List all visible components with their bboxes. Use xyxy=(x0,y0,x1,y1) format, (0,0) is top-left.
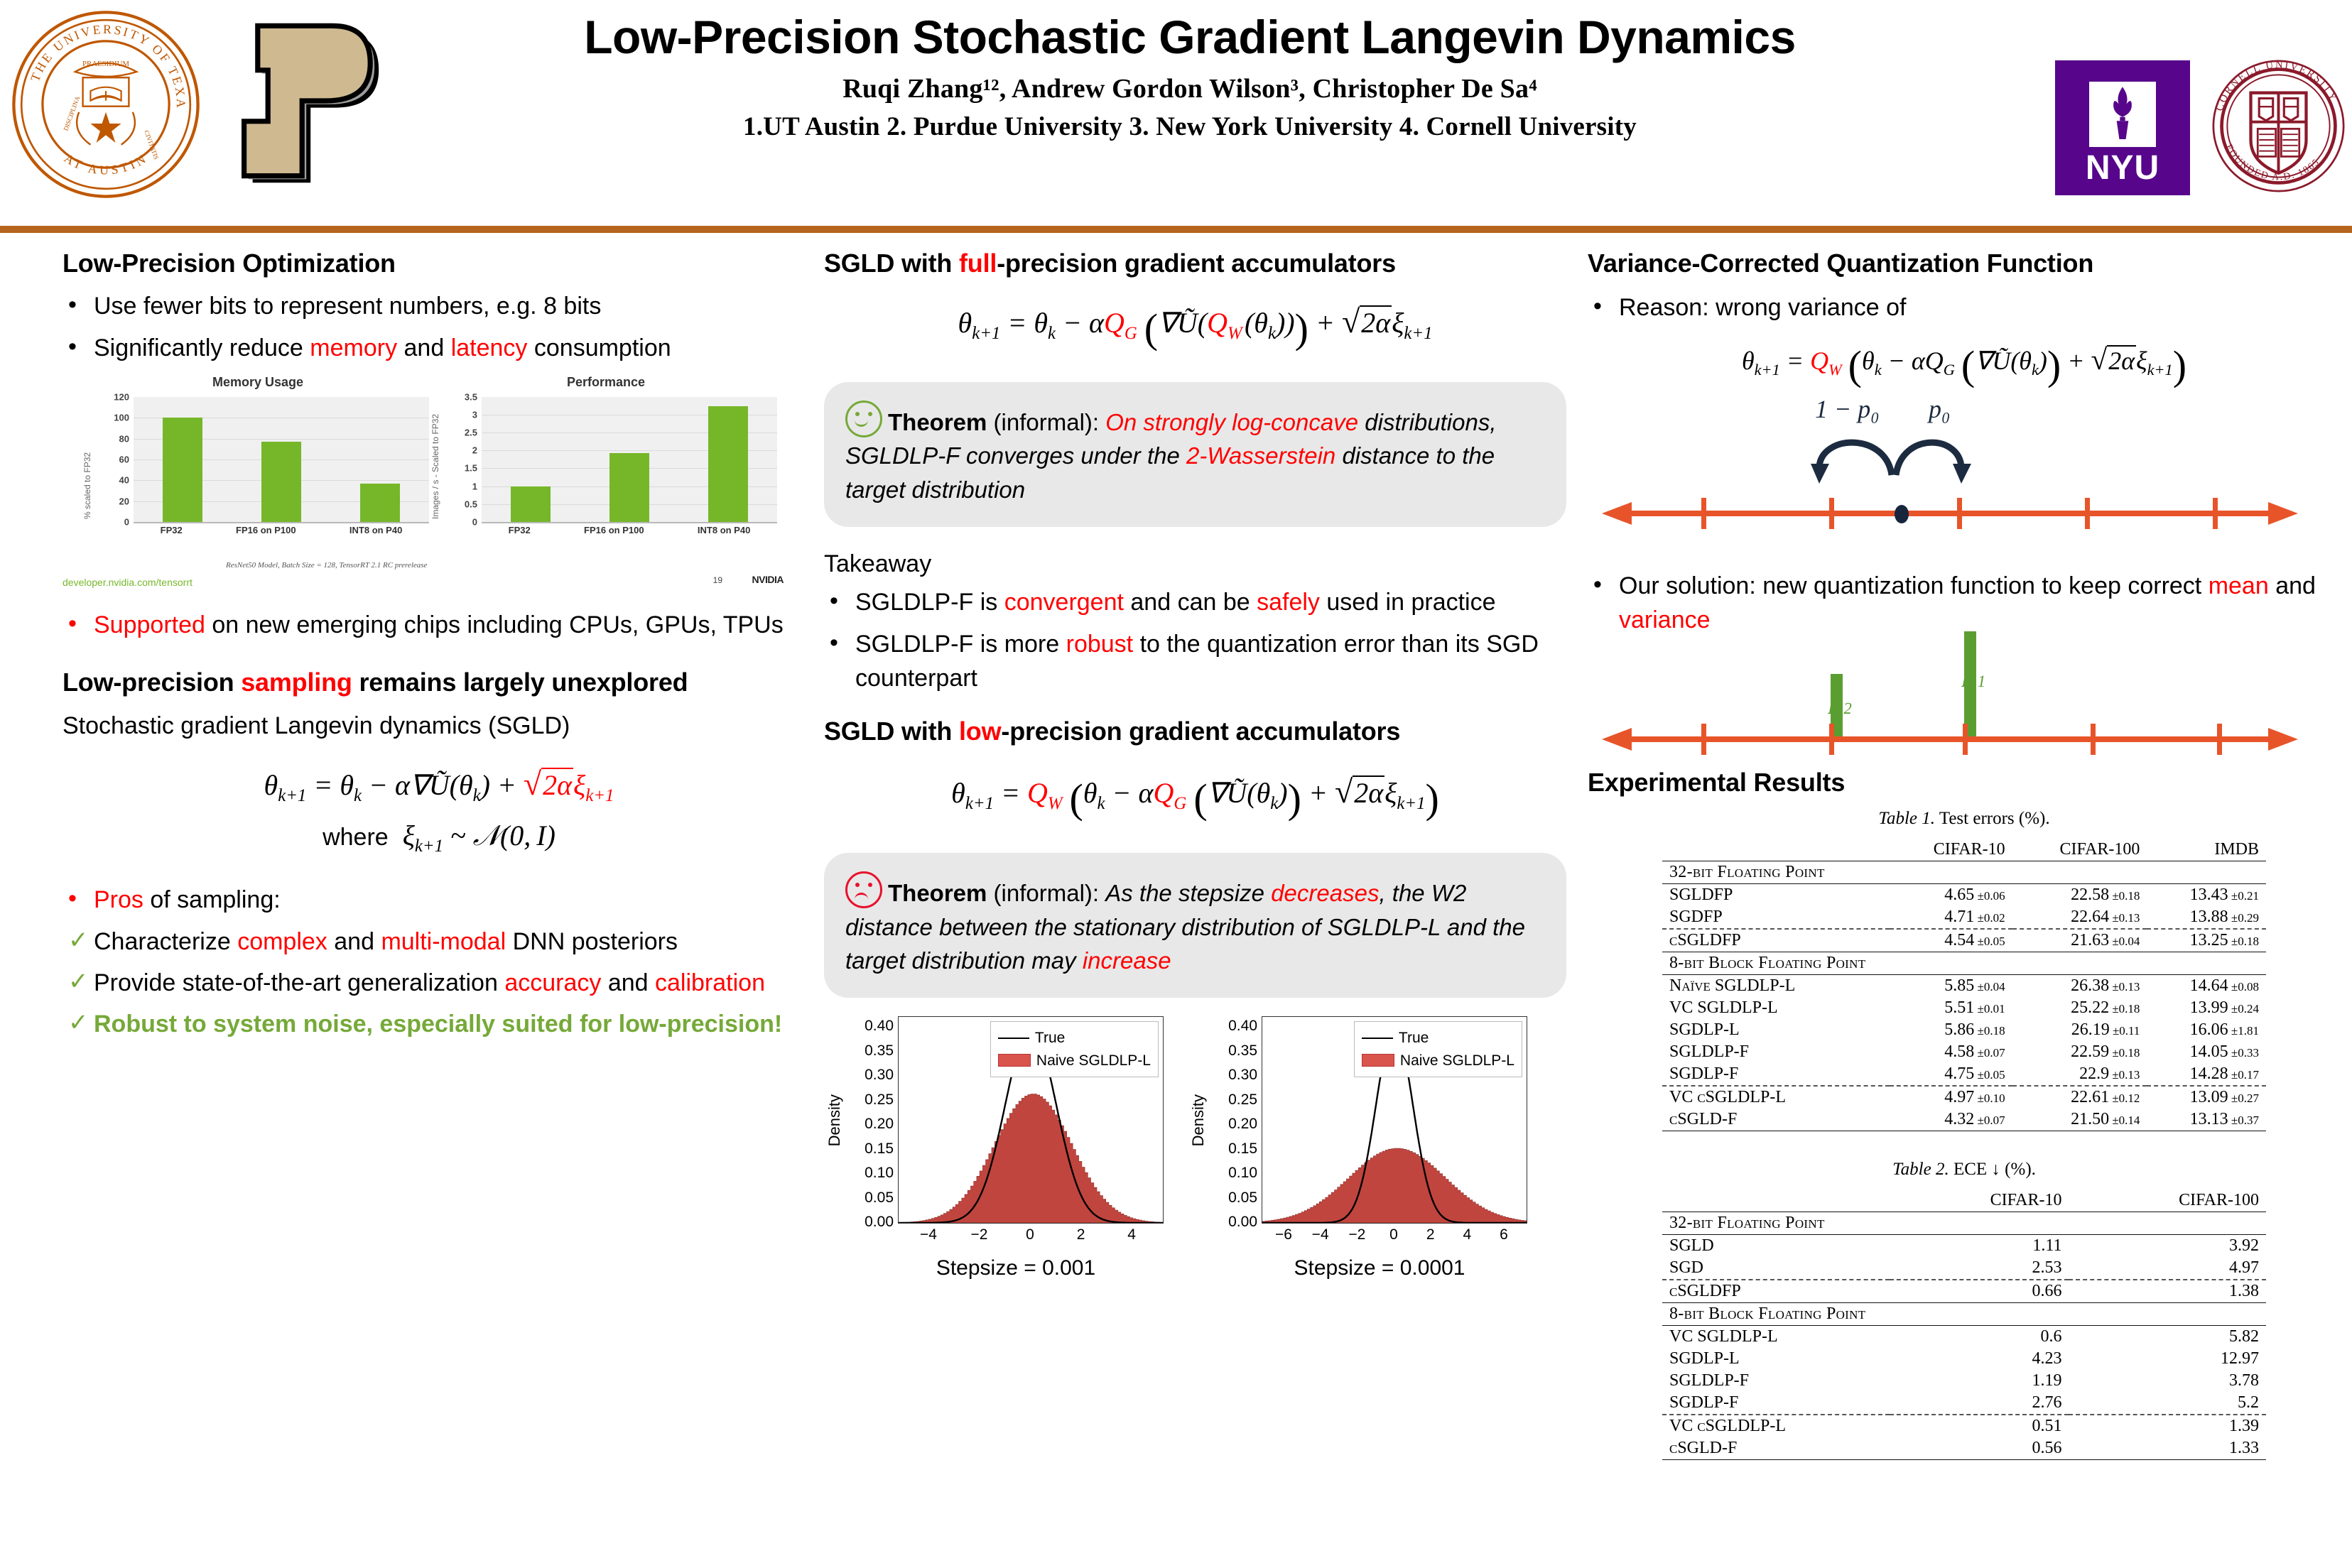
chart-x-ticks: −4−2024 xyxy=(898,1226,1162,1246)
middle-column: SGLD with full-precision gradient accumu… xyxy=(824,249,1566,1293)
table-row: SGDLP-F4.75 ±0.0522.9 ±0.1314.28 ±0.17 xyxy=(1662,1063,2266,1086)
cell-value: 14.28 xyxy=(2190,1065,2228,1083)
y-tick-label: 0.30 xyxy=(865,1067,894,1084)
bullet-dot-icon: • xyxy=(830,626,838,660)
chart-bar xyxy=(609,453,649,522)
cell-value: 0.51 xyxy=(2032,1417,2061,1435)
y-tick: 40 xyxy=(119,475,129,486)
section-heading-low-precision-sampling: Low-precision sampling remains largely u… xyxy=(63,668,815,697)
cell-stderr: ±0.08 xyxy=(2228,980,2259,993)
arrow-right-icon xyxy=(2268,728,2298,751)
y-tick: 1.5 xyxy=(465,463,477,474)
legend-label: Naive SGLDLP-L xyxy=(1400,1052,1514,1069)
legend-color-swatch xyxy=(1362,1054,1394,1067)
theorem-label: Theorem xyxy=(888,880,987,906)
row-label: VC cSGLDLP-L xyxy=(1662,1415,1890,1437)
y-tick-label: 0.10 xyxy=(865,1165,894,1182)
y-tick-label: 0.35 xyxy=(865,1042,894,1060)
cell-stderr: ±0.11 xyxy=(2110,1024,2140,1038)
takeaway-heading: Takeaway xyxy=(824,547,1566,581)
table-bottom-rule xyxy=(1662,1131,2266,1131)
list-item: • Supported on new emerging chips includ… xyxy=(63,608,815,642)
legend-entry-true: True xyxy=(1362,1027,1514,1050)
cell-value: 13.88 xyxy=(2190,908,2228,926)
y-tick-label: 0.00 xyxy=(1228,1214,1257,1231)
chart-legend: True Naive SGLDLP-L xyxy=(990,1021,1159,1077)
cell-stderr: ±0.24 xyxy=(2228,1002,2259,1016)
nvidia-tensorrt-url: developer.nvidia.com/tensorrt xyxy=(63,577,193,588)
table-row: VC SGLDLP-L5.51 ±0.0125.22 ±0.1813.99 ±0… xyxy=(1662,997,2266,1019)
cell-stderr: ±0.21 xyxy=(2228,889,2259,903)
cornell-university-seal-logo: CORNELL UNIVERSITY FOUNDED A.D. 1865 xyxy=(2209,57,2348,195)
cell-value: 13.13 xyxy=(2190,1110,2228,1128)
table-cell: 4.54 ±0.05 xyxy=(1890,929,2012,952)
table-row: cSGLD-F4.32 ±0.0721.50 ±0.1413.13 ±0.37 xyxy=(1662,1109,2266,1131)
table-cell: 22.61 ±0.12 xyxy=(2012,1086,2147,1109)
bullet-dot-icon: • xyxy=(1593,289,1602,323)
nvidia-brand-label: NVIDIA xyxy=(752,574,784,585)
row-label: cSGLDFP xyxy=(1662,929,1890,952)
heading-highlight-low: low xyxy=(959,717,1001,746)
column-header: CIFAR-100 xyxy=(2069,1189,2266,1212)
page-title: Low-Precision Stochastic Gradient Langev… xyxy=(398,13,1982,62)
cell-stderr: ±0.13 xyxy=(2109,980,2140,993)
legend-entry-naive: Naive SGLDLP-L xyxy=(998,1050,1151,1072)
heading-highlight-sampling: sampling xyxy=(241,668,352,697)
x-tick-label: 4 xyxy=(1463,1226,1471,1243)
text-run: Provide state-of-the-art generalization xyxy=(94,969,504,996)
table-group-header: 8-bit Block Floating Point xyxy=(1662,1302,2266,1325)
table1-caption: Table 1. Test errors (%). xyxy=(1588,809,2341,829)
text-run: Robust to system noise, especially suite… xyxy=(94,1011,782,1038)
x-tick-label: FP32 xyxy=(509,525,531,535)
y-tick: 120 xyxy=(114,391,129,402)
table-cell: 14.05 ±0.33 xyxy=(2147,1041,2266,1063)
cell-value: 22.64 xyxy=(2071,908,2109,926)
list-item: ✓ Provide state-of-the-art generalizatio… xyxy=(63,966,815,1000)
cell-stderr: ±0.17 xyxy=(2228,1068,2259,1082)
table-cell: 5.86 ±0.18 xyxy=(1890,1019,2012,1041)
table-row: SGDLP-F2.765.2 xyxy=(1662,1392,2266,1415)
density-plot-row: Density 0.000.050.100.150.200.250.300.35… xyxy=(824,1009,1566,1293)
table-cell: 22.58 ±0.18 xyxy=(2012,883,2147,906)
legend-label: Naive SGLDLP-L xyxy=(1036,1052,1151,1069)
table-row: VC cSGLDLP-L4.97 ±0.1022.61 ±0.1213.09 ±… xyxy=(1662,1086,2266,1109)
heading-part: -precision gradient accumulators xyxy=(997,249,1396,278)
right-column: Variance-Corrected Quantization Function… xyxy=(1588,249,2341,1460)
theorem-callout-full-precision: Theorem (informal): On strongly log-conc… xyxy=(824,382,1566,528)
bullet-dot-icon: • xyxy=(830,584,838,618)
bullet-text-highlight-supported: Supported xyxy=(94,611,205,638)
section-heading-sgld-full-precision: SGLD with full-precision gradient accumu… xyxy=(824,249,1566,278)
heading-highlight-full: full xyxy=(959,249,997,278)
chart-y-axis-label: Images / s - Scaled to FP32 xyxy=(430,413,440,519)
table-test-errors: CIFAR-10CIFAR-100IMDB32-bit Floating Poi… xyxy=(1662,839,2266,1131)
chart-y-ticks: 0.000.050.100.150.200.250.300.350.40 xyxy=(1208,1016,1259,1222)
x-tick-label: 2 xyxy=(1426,1226,1435,1243)
pros-text-2: Robust to system noise, especially suite… xyxy=(94,1011,782,1038)
row-label: cSGLDFP xyxy=(1662,1280,1890,1303)
group-label: 32-bit Floating Point xyxy=(1662,1212,2266,1234)
y-tick-label: 0.00 xyxy=(865,1214,894,1231)
text-run: used in practice xyxy=(1320,589,1496,616)
row-label: VC cSGLDLP-L xyxy=(1662,1086,1890,1109)
cell-value: 26.19 xyxy=(2071,1020,2110,1039)
cell-stderr: ±0.01 xyxy=(1974,1002,2005,1016)
bullet-text: consumption xyxy=(527,334,671,361)
cell-value: 22.9 xyxy=(2079,1065,2109,1083)
bullet-text-highlight-memory: memory xyxy=(310,334,397,361)
happy-face-icon xyxy=(845,401,882,437)
cell-value: 2.53 xyxy=(2032,1258,2061,1277)
heading-part: Low-precision xyxy=(63,668,241,697)
row-label: SGDLP-F xyxy=(1662,1392,1890,1415)
bullet-text: and xyxy=(397,334,451,361)
table-cell: 26.19 ±0.11 xyxy=(2012,1019,2147,1041)
cell-stderr: ±0.04 xyxy=(1974,980,2005,993)
cell-value: 5.2 xyxy=(2238,1393,2259,1412)
cell-stderr: ±0.10 xyxy=(1974,1091,2005,1105)
cell-value: 0.56 xyxy=(2032,1439,2061,1457)
row-label: cSGLD-F xyxy=(1662,1109,1890,1131)
cell-value: 25.22 xyxy=(2071,998,2109,1017)
chart-performance: Performance Images / s - Scaled to FP32 … xyxy=(432,375,780,561)
bullet-text-highlight-variance: variance xyxy=(1619,606,1711,633)
table-row: VC cSGLDLP-L0.511.39 xyxy=(1662,1415,2266,1437)
row-label: VC SGLDLP-L xyxy=(1662,997,1890,1019)
y-tick: 2 xyxy=(472,445,477,456)
chart-plot-area xyxy=(482,397,777,523)
table-cell: 16.06 ±1.81 xyxy=(2147,1019,2266,1041)
heading-part: remains largely unexplored xyxy=(352,668,688,697)
theorem-highlight-2: 2-Wasserstein xyxy=(1186,442,1335,469)
theorem-body-1: As the stepsize xyxy=(1105,880,1271,906)
cell-stderr: ±0.29 xyxy=(2228,911,2259,925)
cell-stderr: ±1.81 xyxy=(2228,1024,2259,1038)
pros-of-sampling-list: • Pros of sampling: ✓ Characterize compl… xyxy=(63,883,815,1041)
row-label: Naïve SGLDLP-L xyxy=(1662,974,1890,997)
table-cell: 4.58 ±0.07 xyxy=(1890,1041,2012,1063)
table-row: SGLDFP4.65 ±0.0622.58 ±0.1813.43 ±0.21 xyxy=(1662,883,2266,906)
list-item: • Our solution: new quantization functio… xyxy=(1588,569,2341,638)
cell-value: 4.97 xyxy=(2229,1258,2259,1277)
cell-value: 4.54 xyxy=(1944,931,1974,949)
y-tick: 0 xyxy=(124,516,129,527)
y-tick-label: 0.40 xyxy=(865,1018,894,1035)
sad-face-icon xyxy=(845,871,882,908)
legend-label: True xyxy=(1035,1030,1065,1046)
chart-y-axis-label: Density xyxy=(1189,1094,1208,1146)
table-cell: 1.33 xyxy=(2069,1437,2266,1460)
table-cell: 22.59 ±0.18 xyxy=(2012,1041,2147,1063)
x-tick-label: INT8 on P40 xyxy=(698,525,750,535)
number-line-uncorrected xyxy=(1602,492,2298,535)
table-ece: CIFAR-10CIFAR-10032-bit Floating PointSG… xyxy=(1662,1189,2266,1460)
chart-legend: True Naive SGLDLP-L xyxy=(1354,1021,1522,1077)
theorem-informal-label: (informal): xyxy=(987,880,1105,906)
bullet-text-highlight-pros: Pros xyxy=(94,886,143,913)
chart-title: Performance xyxy=(432,375,780,390)
arrow-left-icon xyxy=(1602,728,1632,751)
table-cell: 13.99 ±0.24 xyxy=(2147,997,2266,1019)
formula-sgld-update: θk+1 = θk − α∇Ũ(θk) + √2αξk+1 xyxy=(63,761,815,809)
table-cell: 0.66 xyxy=(1890,1280,2069,1303)
chart-bar xyxy=(261,442,301,522)
x-tick-label: 6 xyxy=(1500,1226,1508,1243)
y-tick-label: 0.25 xyxy=(1228,1091,1257,1109)
legend-entry-naive: Naive SGLDLP-L xyxy=(1362,1050,1514,1072)
y-tick: 0 xyxy=(472,516,477,527)
cell-value: 3.92 xyxy=(2229,1236,2259,1255)
chart-caption: Stepsize = 0.001 xyxy=(867,1256,1165,1280)
cell-stderr: ±0.05 xyxy=(1974,935,2005,948)
nyu-logo: NYU xyxy=(2055,60,2190,195)
list-item: ✓ Robust to system noise, especially sui… xyxy=(63,1007,815,1041)
cell-value: 26.38 xyxy=(2071,976,2109,995)
chart-y-ticks: 3.5 3 2.5 2 1.5 1 0.5 0 xyxy=(443,397,480,522)
x-tick-label: −4 xyxy=(1312,1226,1329,1243)
formula-sgldlp-l: θk+1 = QW (θk − αQG (∇Ũ(θk)) + √2αξk+1) xyxy=(824,769,1566,827)
cell-stderr: ±0.18 xyxy=(1974,1024,2005,1038)
legend-line-swatch xyxy=(998,1038,1029,1039)
table-cell: 4.71 ±0.02 xyxy=(1890,906,2012,929)
number-line-point-marker xyxy=(1895,505,1909,523)
slide-page-number: 19 xyxy=(713,575,722,585)
chart-x-ticks: −6−4−20246 xyxy=(1262,1226,1526,1246)
table-cell: 4.75 ±0.05 xyxy=(1890,1063,2012,1086)
y-tick-label: 0.30 xyxy=(1228,1067,1257,1084)
text-run: complex xyxy=(237,928,327,955)
y-tick: 100 xyxy=(114,413,129,423)
bullet-text: on new emerging chips including CPUs, GP… xyxy=(205,611,784,638)
cell-value: 21.50 xyxy=(2071,1110,2109,1128)
cell-value: 13.99 xyxy=(2190,998,2228,1017)
table2-caption-text: ECE ↓ (%). xyxy=(1949,1160,2036,1179)
cell-value: 12.97 xyxy=(2221,1349,2259,1368)
legend-label: True xyxy=(1399,1030,1429,1046)
legend-line-swatch xyxy=(1362,1038,1393,1039)
cell-value: 0.66 xyxy=(2032,1282,2061,1300)
column-header xyxy=(1662,839,1890,861)
list-item: • Significantly reduce memory and latenc… xyxy=(63,331,815,365)
table-cell: 25.22 ±0.18 xyxy=(2012,997,2147,1019)
cell-value: 1.33 xyxy=(2229,1439,2259,1457)
y-tick-label: 0.20 xyxy=(865,1116,894,1133)
chart-x-tick-labels: FP32FP16 on P100INT8 on P40 xyxy=(134,525,429,535)
table-cell: 3.92 xyxy=(2069,1234,2266,1257)
list-item: ✓ Characterize complex and multi-modal D… xyxy=(63,925,815,959)
cell-stderr: ±0.18 xyxy=(2109,1046,2140,1060)
chart-y-ticks: 120 100 80 60 40 20 0 xyxy=(95,397,132,522)
x-tick-label: FP32 xyxy=(161,525,183,535)
legend-entry-true: True xyxy=(998,1027,1151,1050)
table-cell: 1.38 xyxy=(2069,1280,2266,1303)
table-cell: 13.88 ±0.29 xyxy=(2147,906,2266,929)
check-icon: ✓ xyxy=(68,1006,89,1040)
table-cell: 5.2 xyxy=(2069,1392,2266,1415)
y-tick-label: 0.15 xyxy=(1228,1140,1257,1158)
heading-part: SGLD with xyxy=(824,717,959,746)
svg-text:AT AUSTIN: AT AUSTIN xyxy=(62,151,151,178)
chart-plot-area xyxy=(134,397,429,523)
chart-x-tick-labels: FP32FP16 on P100INT8 on P40 xyxy=(482,525,777,535)
bullet-dot-icon: • xyxy=(68,606,77,641)
chart-bar xyxy=(708,406,748,522)
arrow-left-icon xyxy=(1602,502,1632,525)
chart-bars xyxy=(134,397,429,522)
row-label: SGDFP xyxy=(1662,906,1890,929)
y-tick: 0.5 xyxy=(465,499,477,509)
column-header xyxy=(1662,1189,1890,1212)
list-item-pros-header: • Pros of sampling: xyxy=(63,883,815,917)
x-tick-label: −4 xyxy=(920,1226,937,1243)
table-cell: 1.39 xyxy=(2069,1415,2266,1437)
x-tick-label: 2 xyxy=(1077,1226,1085,1243)
y-tick: 3.5 xyxy=(465,391,477,402)
cell-value: 16.06 xyxy=(2190,1020,2228,1039)
chart-bars xyxy=(482,397,777,522)
cell-stderr: ±0.02 xyxy=(1974,911,2005,925)
cell-value: 4.97 xyxy=(1944,1088,1974,1106)
table-row: SGDFP4.71 ±0.0222.64 ±0.1313.88 ±0.29 xyxy=(1662,906,2266,929)
cell-stderr: ±0.04 xyxy=(2109,935,2140,948)
section-heading-low-precision-optimization: Low-Precision Optimization xyxy=(63,249,815,278)
text-run: convergent xyxy=(1004,589,1124,616)
chart-y-axis-label: % scaled to FP32 xyxy=(82,413,92,519)
bullet-text-highlight-mean: mean xyxy=(2209,572,2269,599)
bullet-text: Reason: wrong variance of xyxy=(1619,294,1906,321)
author-list: Ruqi Zhang¹², Andrew Gordon Wilson³, Chr… xyxy=(398,73,1982,104)
table-row: cSGLDFP0.661.38 xyxy=(1662,1280,2266,1303)
text-run: calibration xyxy=(655,969,765,996)
x-tick-label: −6 xyxy=(1275,1226,1292,1243)
chart-bar xyxy=(511,486,551,522)
charts-footnote: ResNet50 Model, Batch Size = 128, Tensor… xyxy=(226,561,427,570)
y-tick-label: 0.05 xyxy=(1228,1189,1257,1207)
table-cell: 4.23 xyxy=(1890,1348,2069,1370)
column-header: CIFAR-10 xyxy=(1890,839,2012,861)
bullet-dot-icon: • xyxy=(1593,567,1602,601)
arc-label-left: 1 − p₀ xyxy=(1815,394,1880,424)
bullet-dot-icon: • xyxy=(68,288,77,322)
table-cell: 2.76 xyxy=(1890,1392,2069,1415)
row-label: SGDLP-F xyxy=(1662,1063,1890,1086)
table-cell: 5.51 ±0.01 xyxy=(1890,997,2012,1019)
bullet-text: Significantly reduce xyxy=(94,334,310,361)
cell-stderr: ±0.12 xyxy=(2109,1091,2140,1105)
table-header-row: CIFAR-10CIFAR-100IMDB xyxy=(1662,839,2266,861)
x-tick-label: FP16 on P100 xyxy=(236,525,296,535)
low-precision-optimization-bullets: • Use fewer bits to represent numbers, e… xyxy=(63,289,815,365)
cell-stderr: ±0.07 xyxy=(1974,1114,2005,1127)
table2-caption-label: Table 2. xyxy=(1892,1160,1949,1179)
text-run: safely xyxy=(1257,589,1320,616)
row-label: SGLDFP xyxy=(1662,883,1890,906)
list-item: • SGLDLP-F is convergent and can be safe… xyxy=(824,585,1566,619)
table-row: SGD2.534.97 xyxy=(1662,1257,2266,1280)
cell-value: 2.76 xyxy=(2032,1393,2061,1412)
formula-quantized-update: θk+1 = QW (θk − αQG (∇Ũ(θk)) + √2αξk+1) xyxy=(1588,337,2341,394)
cell-value: 3.78 xyxy=(2229,1371,2259,1390)
cell-stderr: ±0.13 xyxy=(2109,911,2140,925)
table-cell: 14.28 ±0.17 xyxy=(2147,1063,2266,1086)
y-tick-label: 0.15 xyxy=(865,1140,894,1158)
table-row: SGLD1.113.92 xyxy=(1662,1234,2266,1257)
row-label: SGDLP-L xyxy=(1662,1348,1890,1370)
table-cell: 12.97 xyxy=(2069,1348,2266,1370)
density-plot-stepsize-00001: Density 0.000.050.100.150.200.250.300.35… xyxy=(1188,1009,1543,1293)
poster-header: THE UNIVERSITY OF TEXAS AT AUSTIN PRAESI… xyxy=(0,0,2352,229)
y-tick-label: 0.05 xyxy=(865,1189,894,1207)
text-run: DNN posteriors xyxy=(506,928,678,955)
table-cell: 22.9 ±0.13 xyxy=(2012,1063,2147,1086)
text-run: SGLDLP-F is more xyxy=(855,631,1066,658)
table-row: SGLDLP-F1.193.78 xyxy=(1662,1370,2266,1392)
text-run: and can be xyxy=(1124,589,1257,616)
cell-value: 4.32 xyxy=(1944,1110,1974,1128)
pros-text-1: Provide state-of-the-art generalization … xyxy=(94,969,765,996)
column-header: CIFAR-10 xyxy=(1890,1189,2069,1212)
density-plot-stepsize-0001: Density 0.000.050.100.150.200.250.300.35… xyxy=(824,1009,1179,1293)
group-label: 32-bit Floating Point xyxy=(1662,861,2266,883)
y-tick: 2.5 xyxy=(465,428,477,438)
table-row: VC SGLDLP-L0.65.82 xyxy=(1662,1325,2266,1348)
bullet-text: Our solution: new quantization function … xyxy=(1619,572,2209,599)
cell-stderr: ±0.18 xyxy=(2228,935,2259,948)
header-divider-rule xyxy=(0,226,2352,233)
cell-value: 22.61 xyxy=(2071,1088,2109,1106)
theorem-informal-label: (informal): xyxy=(987,409,1105,435)
table-group-header: 32-bit Floating Point xyxy=(1662,861,2266,883)
chart-title: Memory Usage xyxy=(84,375,432,390)
row-label: SGDLP-L xyxy=(1662,1019,1890,1041)
cell-value: 14.64 xyxy=(2190,976,2228,995)
table-cell: 22.64 ±0.13 xyxy=(2012,906,2147,929)
row-label: SGLD xyxy=(1662,1234,1890,1257)
y-tick: 60 xyxy=(119,454,129,464)
text-run: Characterize xyxy=(94,928,237,955)
x-tick-label: FP16 on P100 xyxy=(584,525,644,535)
x-tick-label: INT8 on P40 xyxy=(349,525,402,535)
section-heading-variance-corrected-quantization: Variance-Corrected Quantization Function xyxy=(1588,249,2341,278)
cell-stderr: ±0.14 xyxy=(2109,1114,2140,1127)
cell-value: 13.09 xyxy=(2190,1088,2228,1106)
row-label: cSGLD-F xyxy=(1662,1437,1890,1460)
table-group-header: 32-bit Floating Point xyxy=(1662,1212,2266,1234)
text-run: accuracy xyxy=(504,969,601,996)
cell-value: 1.11 xyxy=(2032,1236,2061,1255)
chart-plot-area: True Naive SGLDLP-L xyxy=(1262,1016,1527,1224)
table-row: cSGLD-F0.561.33 xyxy=(1662,1437,2266,1460)
text-run: multi-modal xyxy=(381,928,506,955)
group-label: 8-bit Block Floating Point xyxy=(1662,952,2266,974)
text-run: and xyxy=(601,969,655,996)
arrow-right-icon xyxy=(2268,502,2298,525)
table2-caption: Table 2. ECE ↓ (%). xyxy=(1588,1160,2341,1180)
table-row: cSGLDFP4.54 ±0.0521.63 ±0.0413.25 ±0.18 xyxy=(1662,929,2266,952)
cell-stderr: ±0.05 xyxy=(1974,1068,2005,1082)
purdue-p-logo xyxy=(213,16,398,186)
cell-value: 4.71 xyxy=(1944,908,1974,926)
theorem-highlight-2: increase xyxy=(1083,947,1171,974)
table-cell: 13.25 ±0.18 xyxy=(2147,929,2266,952)
pros-text-0: Characterize complex and multi-modal DNN… xyxy=(94,928,678,955)
table1-caption-label: Table 1. xyxy=(1878,809,1935,828)
y-tick-label: 0.35 xyxy=(1228,1042,1257,1060)
table-cell: 1.19 xyxy=(1890,1370,2069,1392)
cell-stderr: ±0.33 xyxy=(2228,1046,2259,1060)
svg-text:PRAESIDIUM: PRAESIDIUM xyxy=(82,60,129,68)
